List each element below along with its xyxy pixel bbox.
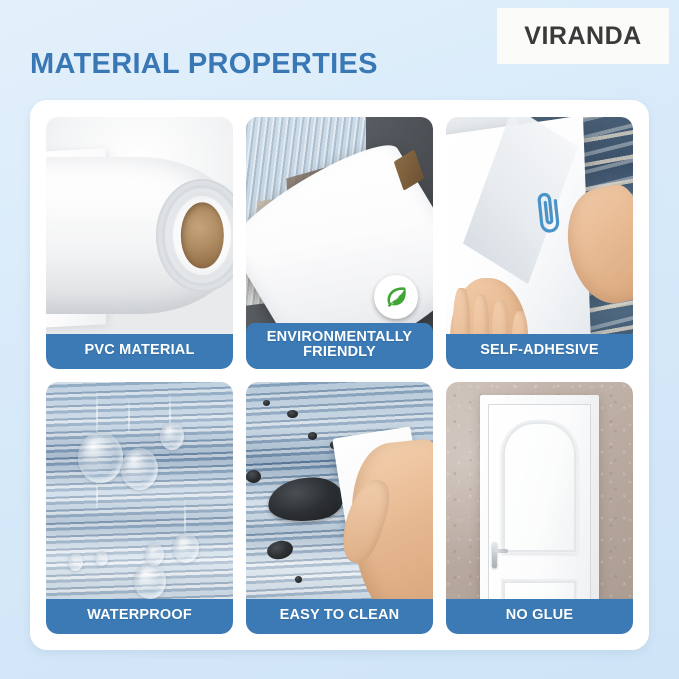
card-label-no-glue: NO GLUE [446,599,633,634]
page-title: MATERIAL PROPERTIES [30,48,378,81]
card-label-line-2: FRIENDLY [303,344,376,360]
card-no-glue[interactable]: NO GLUE [446,382,633,634]
card-label-pvc-material: PVC MATERIAL [46,334,233,369]
door-panel-upper [501,420,577,553]
leaf-icon [374,275,418,319]
page-header: MATERIAL PROPERTIES VIRANDA [0,0,679,100]
water-trail [128,397,130,432]
waterproof-image [46,382,233,634]
card-easy-to-clean[interactable]: EASY TO CLEAN [246,382,433,634]
paperclip-icon [530,186,569,237]
brand-logo-text: VIRANDA [524,22,641,51]
pvc-cardboard-core [181,203,223,268]
card-environmentally-friendly[interactable]: ENVIRONMENTALLY FRIENDLY [246,117,433,369]
stain-small [246,470,261,483]
water-droplet [134,563,166,598]
stain-small [308,432,317,440]
stain-small [295,576,302,583]
properties-panel: PVC MATERIAL ENVIRONMENTALLY [30,100,649,650]
no-glue-image [446,382,633,634]
water-droplet [121,448,158,491]
card-label-line-1: ENVIRONMENTALLY [267,329,413,345]
water-trail [184,498,186,533]
self-adhesive-image [446,117,633,369]
door-handle [492,542,497,568]
brand-logo: VIRANDA [497,8,669,64]
pvc-roll-image [46,117,233,369]
pvc-roll-body [46,157,233,313]
card-pvc-material[interactable]: PVC MATERIAL [46,117,233,369]
card-waterproof[interactable]: WATERPROOF [46,382,233,634]
card-self-adhesive[interactable]: SELF-ADHESIVE [446,117,633,369]
stain-small [263,400,270,406]
card-label-waterproof: WATERPROOF [46,599,233,634]
water-trail [96,387,98,432]
card-label-self-adhesive: SELF-ADHESIVE [446,334,633,369]
properties-grid: PVC MATERIAL ENVIRONMENTALLY [46,117,633,634]
card-label-easy-to-clean: EASY TO CLEAN [246,599,433,634]
water-droplet [95,551,108,566]
water-droplet [78,432,123,482]
pvc-roll-face [156,179,233,291]
card-label-environmentally-friendly: ENVIRONMENTALLY FRIENDLY [246,323,433,369]
easy-to-clean-image [246,382,433,634]
waterproof-background [46,382,233,634]
door-frame [480,395,600,634]
